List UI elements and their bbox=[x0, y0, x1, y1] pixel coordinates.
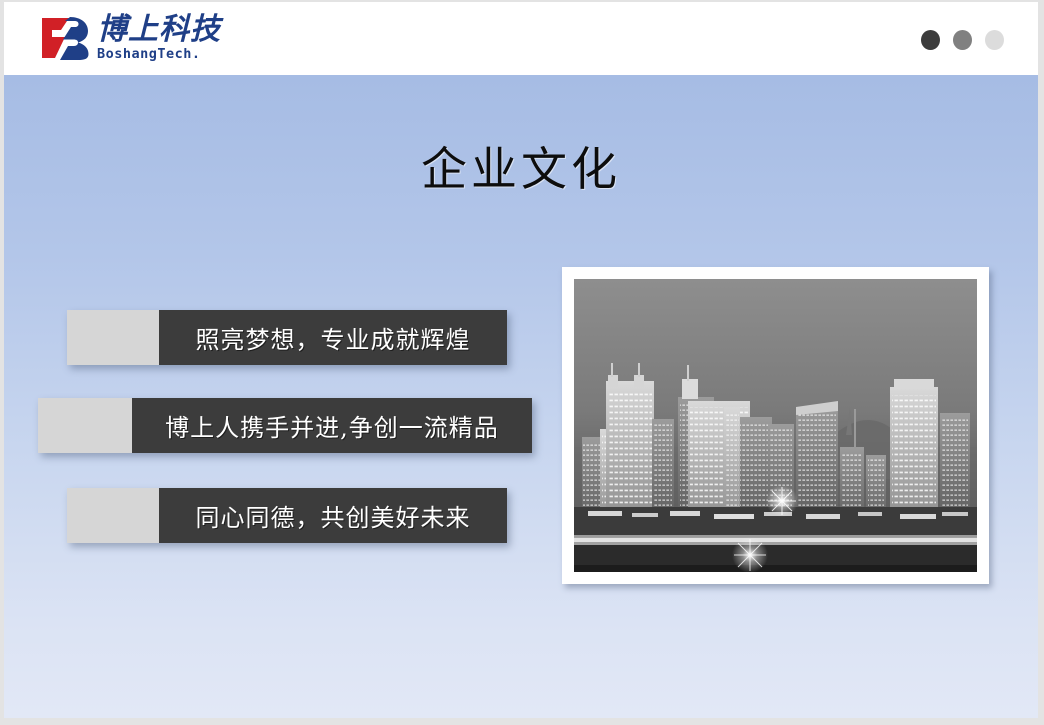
slide-header: 博上科技 BoshangTech. bbox=[4, 2, 1038, 75]
culture-bar-label: 同心同德，共创美好未来 bbox=[196, 498, 471, 533]
dot-medium-icon bbox=[953, 30, 972, 50]
culture-bar-tab bbox=[67, 310, 159, 365]
boshang-logo-mark-icon bbox=[40, 15, 90, 61]
culture-bar-label: 照亮梦想，专业成就辉煌 bbox=[196, 320, 471, 355]
logo-wordmark: 博上科技 BoshangTech. bbox=[97, 15, 221, 62]
header-decoration-dots bbox=[921, 30, 1004, 50]
city-skyline-night-photo bbox=[574, 279, 977, 572]
dot-dark-icon bbox=[921, 30, 940, 50]
culture-bar-body: 同心同德，共创美好未来 bbox=[159, 488, 507, 543]
logo-company-name-en: BoshangTech. bbox=[97, 48, 221, 62]
presentation-slide: 博上科技 BoshangTech. 企业文化 照亮梦想，专业成就辉煌 博上人携 bbox=[4, 2, 1038, 718]
culture-bar-item: 照亮梦想，专业成就辉煌 bbox=[67, 310, 507, 365]
dot-light-icon bbox=[985, 30, 1004, 50]
culture-bar-body: 照亮梦想，专业成就辉煌 bbox=[159, 310, 507, 365]
company-logo[interactable]: 博上科技 BoshangTech. bbox=[40, 15, 221, 62]
logo-company-name-cn: 博上科技 bbox=[97, 15, 221, 45]
culture-bar-tab bbox=[67, 488, 159, 543]
culture-bar-item: 博上人携手并进,争创一流精品 bbox=[38, 398, 532, 453]
culture-bar-body: 博上人携手并进,争创一流精品 bbox=[132, 398, 532, 453]
culture-bar-item: 同心同德，共创美好未来 bbox=[67, 488, 507, 543]
culture-bar-label: 博上人携手并进,争创一流精品 bbox=[165, 408, 499, 443]
photo-frame bbox=[562, 267, 989, 584]
slide-body: 企业文化 照亮梦想，专业成就辉煌 博上人携手并进,争创一流精品 同心同德，共创美… bbox=[4, 75, 1038, 718]
culture-bar-tab bbox=[38, 398, 132, 453]
city-skyline-illustration-icon bbox=[574, 279, 977, 572]
